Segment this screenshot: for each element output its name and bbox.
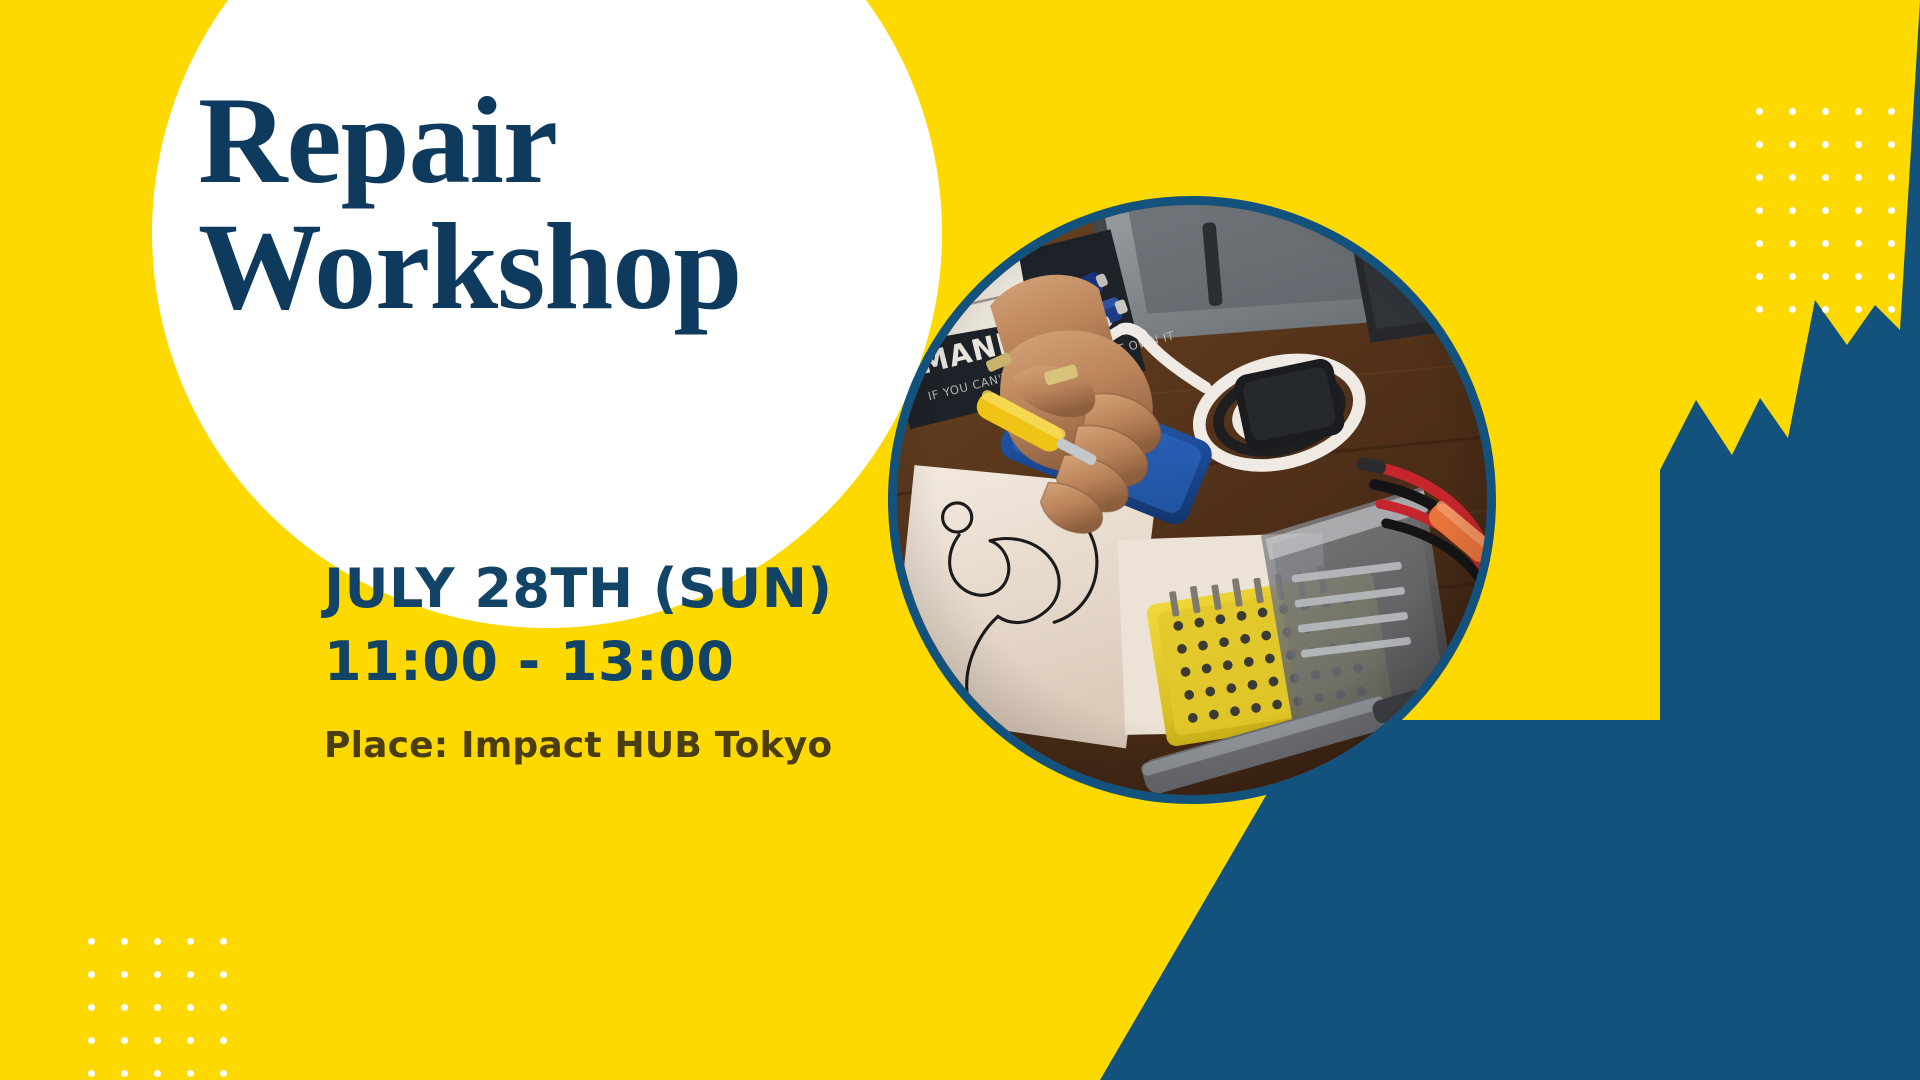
dot	[1789, 141, 1796, 148]
dot	[187, 938, 194, 945]
title-line-2: Workshop	[198, 204, 818, 330]
dot	[187, 971, 194, 978]
dot	[1888, 273, 1895, 280]
dot	[1855, 174, 1862, 181]
dot	[1822, 306, 1829, 313]
dot	[1888, 207, 1895, 214]
dot	[1855, 273, 1862, 280]
dot	[121, 1004, 128, 1011]
dot	[154, 1037, 161, 1044]
dot	[1855, 108, 1862, 115]
dot	[187, 1004, 194, 1011]
dot	[187, 1070, 194, 1077]
dot	[1822, 240, 1829, 247]
dot	[154, 971, 161, 978]
dot	[1789, 174, 1796, 181]
dot	[220, 1070, 227, 1077]
dot	[1888, 108, 1895, 115]
dot	[1789, 207, 1796, 214]
dot	[220, 971, 227, 978]
dot	[154, 1004, 161, 1011]
dot	[1855, 141, 1862, 148]
dot	[1822, 273, 1829, 280]
event-date: JULY 28TH (SUN)	[324, 552, 833, 625]
dot	[1756, 273, 1763, 280]
dot	[1822, 174, 1829, 181]
dot	[121, 938, 128, 945]
dot	[220, 938, 227, 945]
dot	[1855, 240, 1862, 247]
dot	[1756, 240, 1763, 247]
dot	[1789, 273, 1796, 280]
event-details: JULY 28TH (SUN) 11:00 - 13:00 Place: Imp…	[324, 552, 833, 766]
dot	[187, 1037, 194, 1044]
dot	[1756, 141, 1763, 148]
dot	[1888, 141, 1895, 148]
dot	[88, 1037, 95, 1044]
page-title: Repair Workshop	[198, 78, 818, 331]
dot	[88, 1004, 95, 1011]
dot	[121, 1070, 128, 1077]
dot	[88, 971, 95, 978]
dot	[1855, 207, 1862, 214]
dot	[1789, 306, 1796, 313]
dot	[154, 938, 161, 945]
dot	[1888, 174, 1895, 181]
dot-pattern-bottom-left	[88, 938, 227, 1077]
dot	[121, 1037, 128, 1044]
dot	[1855, 306, 1862, 313]
dot	[1756, 174, 1763, 181]
dot	[220, 1037, 227, 1044]
event-place: Place: Impact HUB Tokyo	[324, 725, 833, 766]
dot-pattern-top-right	[1756, 108, 1920, 313]
dot	[1888, 306, 1895, 313]
dot	[154, 1070, 161, 1077]
workshop-photo: REPAIR MANIFESTO IF YOU CAN'T FIX IT, YO…	[888, 196, 1496, 804]
dot	[1756, 108, 1763, 115]
dot	[1822, 108, 1829, 115]
dot	[1756, 207, 1763, 214]
dot	[220, 1004, 227, 1011]
dot	[1822, 207, 1829, 214]
dot	[88, 938, 95, 945]
title-line-1: Repair	[198, 78, 818, 204]
dot	[1756, 306, 1763, 313]
dot	[1789, 108, 1796, 115]
dot	[1789, 240, 1796, 247]
event-time: 11:00 - 13:00	[324, 625, 833, 698]
poster-canvas: Repair Workshop JULY 28TH (SUN) 11:00 - …	[0, 0, 1920, 1080]
dot	[1822, 141, 1829, 148]
dot	[88, 1070, 95, 1077]
dot	[121, 971, 128, 978]
dot	[1888, 240, 1895, 247]
